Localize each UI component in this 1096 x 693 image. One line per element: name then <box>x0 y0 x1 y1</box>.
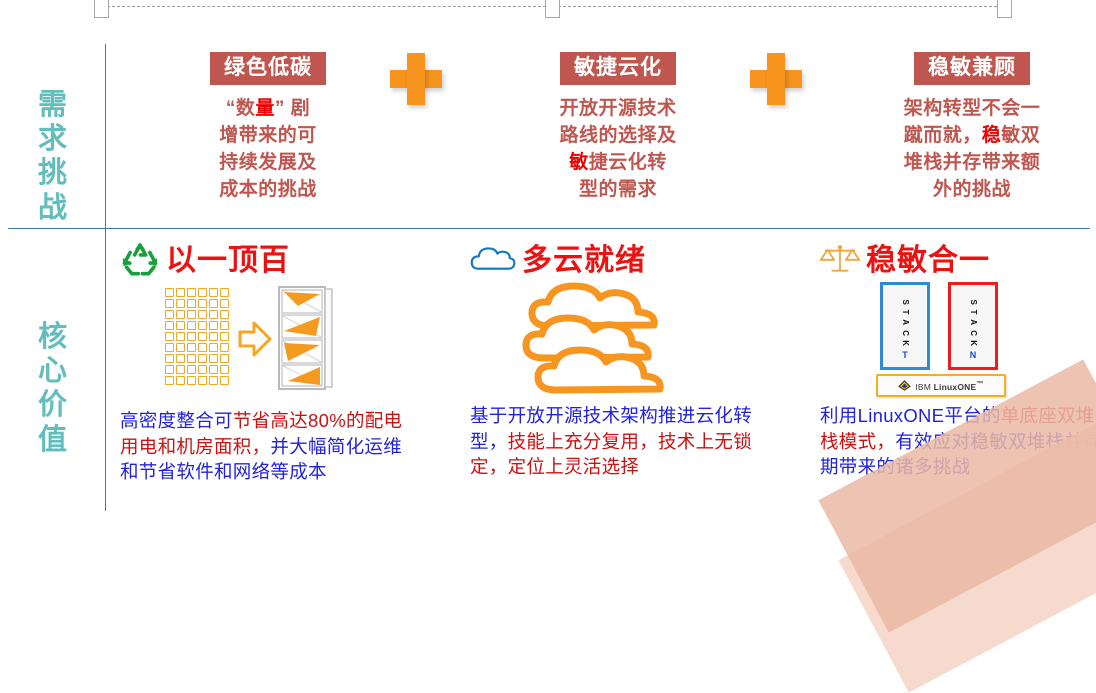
challenge-badge: 绿色低碳 <box>210 52 326 85</box>
recycle-icon <box>120 241 160 282</box>
vertical-divider-bottom <box>105 228 106 511</box>
value-card-caption: 基于开放开源技术架构推进云化转型，技能上充分复用，技术上无锁定，定位上灵活选择 <box>470 403 760 480</box>
challenge-body-line: 蹴而就，稳敏双 <box>872 123 1072 150</box>
stack-box-n: STACK N <box>948 282 998 370</box>
server-unit <box>220 299 229 308</box>
stacked-clouds-graphic <box>488 280 738 398</box>
slide-canvas: 需 求 挑 战 核 心 价 值 绿色低碳 “数量” 剧增带来的可持续发展及成本的… <box>0 0 1096 511</box>
row-label-char: 价 <box>18 388 88 422</box>
server-unit <box>209 332 218 341</box>
server-unit <box>198 310 207 319</box>
server-unit <box>198 365 207 374</box>
server-unit <box>220 354 229 363</box>
stack-box-n-word: STACK <box>951 297 995 348</box>
server-unit <box>165 321 174 330</box>
dual-stack-linuxone-graphic: STACK T STACK N IBM LinuxONE™ <box>860 282 1020 394</box>
challenge-card[interactable]: 稳敏兼顾 架构转型不会一蹴而就，稳敏双堆栈并存带来额外的挑战 <box>872 52 1072 204</box>
arrow-right-icon <box>238 320 272 358</box>
value-card[interactable]: 稳敏合一 STACK T STACK N IBM LinuxONE™ 利用 <box>820 240 1096 282</box>
challenge-body-line: “数量” 剧 <box>168 96 368 123</box>
server-unit <box>187 321 196 330</box>
server-unit <box>198 354 207 363</box>
guide-handle-center[interactable] <box>545 0 560 18</box>
server-unit <box>220 343 229 352</box>
server-unit <box>209 310 218 319</box>
stack-box-t-word: STACK <box>883 297 927 348</box>
body-text: “数 <box>226 98 256 119</box>
body-text: 架构转型不会一 <box>904 98 1041 119</box>
ibm-prefix: IBM <box>915 381 931 391</box>
body-text: 型的需求 <box>579 179 657 200</box>
server-unit <box>187 354 196 363</box>
body-text: 蹴而就， <box>904 125 982 146</box>
server-unit <box>198 288 207 297</box>
server-unit <box>209 299 218 308</box>
body-text: ” 剧 <box>275 98 310 119</box>
challenge-badge: 敏捷云化 <box>560 52 676 85</box>
linuxone-name: LinuxONE <box>934 381 977 391</box>
server-unit <box>209 288 218 297</box>
row-label-char: 核 <box>18 320 88 354</box>
server-unit <box>187 376 196 385</box>
challenge-card[interactable]: 敏捷云化 开放开源技术路线的选择及敏捷云化转型的需求 <box>518 52 718 204</box>
server-unit <box>165 332 174 341</box>
server-unit <box>187 299 196 308</box>
challenge-body: “数量” 剧增带来的可持续发展及成本的挑战 <box>168 96 368 204</box>
server-unit <box>209 343 218 352</box>
server-unit <box>198 343 207 352</box>
server-square-grid <box>165 288 230 386</box>
balance-scale-icon <box>820 242 860 281</box>
challenge-body: 开放开源技术路线的选择及敏捷云化转型的需求 <box>518 96 718 204</box>
server-unit <box>187 365 196 374</box>
server-unit <box>165 343 174 352</box>
server-unit <box>165 376 174 385</box>
server-unit <box>187 332 196 341</box>
body-text: 增带来的可 <box>219 125 317 146</box>
server-unit <box>176 343 185 352</box>
server-unit <box>198 299 207 308</box>
row-label-char: 心 <box>18 354 88 388</box>
server-unit <box>165 288 174 297</box>
row-label-core-value: 核 心 价 值 <box>18 320 88 457</box>
server-unit <box>198 376 207 385</box>
cloud-icon <box>470 243 516 280</box>
server-unit <box>176 376 185 385</box>
row-label-char: 值 <box>18 423 88 457</box>
server-unit <box>209 354 218 363</box>
highlight-text: 稳 <box>982 125 1002 146</box>
server-unit <box>209 376 218 385</box>
body-text: 外的挑战 <box>933 179 1011 200</box>
challenge-body-line: 开放开源技术 <box>518 96 718 123</box>
challenge-body-line: 堆栈并存带来额 <box>872 150 1072 177</box>
linuxone-label: IBM LinuxONE™ <box>915 380 983 392</box>
stack-box-t: STACK T <box>880 282 930 370</box>
value-card-title: 多云就绪 <box>522 246 646 276</box>
ibm-mark-icon <box>898 380 911 391</box>
challenge-body-line: 成本的挑战 <box>168 177 368 204</box>
server-unit <box>187 343 196 352</box>
challenge-badge: 稳敏兼顾 <box>914 52 1030 85</box>
server-unit <box>176 321 185 330</box>
server-unit <box>209 321 218 330</box>
vertical-divider-top <box>105 44 106 228</box>
server-unit <box>165 354 174 363</box>
value-card-title: 稳敏合一 <box>866 246 990 276</box>
server-unit <box>209 365 218 374</box>
challenge-card[interactable]: 绿色低碳 “数量” 剧增带来的可持续发展及成本的挑战 <box>168 52 368 204</box>
body-text: 路线的选择及 <box>559 125 676 146</box>
tm-mark: ™ <box>976 380 983 388</box>
stack-box-n-tag: N <box>951 350 995 360</box>
body-text: 开放开源技术 <box>559 98 676 119</box>
challenge-body-line: 型的需求 <box>518 177 718 204</box>
challenge-body: 架构转型不会一蹴而就，稳敏双堆栈并存带来额外的挑战 <box>872 96 1072 204</box>
guide-handle-left[interactable] <box>94 0 109 18</box>
server-unit <box>176 299 185 308</box>
row-label-char: 需 <box>18 88 88 122</box>
horizontal-divider <box>8 228 1090 229</box>
body-text: 成本的挑战 <box>219 179 317 200</box>
caption-run: 高密度整合可 <box>120 410 233 431</box>
challenge-body-line: 架构转型不会一 <box>872 96 1072 123</box>
server-unit <box>220 365 229 374</box>
body-text: 持续发展及 <box>219 152 317 173</box>
value-card-caption: 高密度整合可节省高达80%的配电用电和机房面积，并大幅简化运维和节省软件和网络等… <box>120 408 410 485</box>
server-unit <box>198 332 207 341</box>
challenge-body-line: 增带来的可 <box>168 123 368 150</box>
server-rack-icon <box>278 286 334 390</box>
row-label-demand-challenge: 需 求 挑 战 <box>18 88 88 225</box>
challenge-body-line: 外的挑战 <box>872 177 1072 204</box>
server-unit <box>187 310 196 319</box>
server-unit <box>176 288 185 297</box>
server-unit <box>165 310 174 319</box>
server-unit <box>176 354 185 363</box>
challenge-body-line: 持续发展及 <box>168 150 368 177</box>
server-unit <box>220 310 229 319</box>
body-text: 捷云化转 <box>589 152 667 173</box>
horizontal-guide[interactable] <box>94 0 1010 18</box>
body-text: 敏双 <box>1001 125 1040 146</box>
value-card[interactable]: 以一顶百 <box>120 240 420 282</box>
server-unit <box>176 332 185 341</box>
server-unit <box>220 321 229 330</box>
server-unit <box>187 288 196 297</box>
stack-box-t-tag: T <box>883 350 927 360</box>
value-card-header: 稳敏合一 <box>820 240 1096 282</box>
server-unit <box>198 321 207 330</box>
challenge-body-line: 敏捷云化转 <box>518 150 718 177</box>
guide-handle-right[interactable] <box>997 0 1012 18</box>
server-unit <box>176 310 185 319</box>
challenge-body-line: 路线的选择及 <box>518 123 718 150</box>
server-consolidation-graphic <box>165 286 335 391</box>
value-card-header: 多云就绪 <box>470 240 770 282</box>
server-unit <box>165 365 174 374</box>
server-unit <box>220 288 229 297</box>
server-unit <box>220 376 229 385</box>
plus-icon <box>390 53 442 105</box>
server-unit <box>176 365 185 374</box>
server-unit <box>165 299 174 308</box>
server-unit <box>220 332 229 341</box>
highlight-text: 量 <box>255 98 275 119</box>
row-label-char: 战 <box>18 191 88 225</box>
plus-icon <box>750 53 802 105</box>
value-card-title: 以一顶百 <box>166 246 290 276</box>
value-card-header: 以一顶百 <box>120 240 420 282</box>
body-text: 堆栈并存带来额 <box>904 152 1041 173</box>
linuxone-platform-bar: IBM LinuxONE™ <box>876 374 1006 397</box>
row-label-char: 求 <box>18 122 88 156</box>
row-label-char: 挑 <box>18 156 88 190</box>
value-card[interactable]: 多云就绪 基于开放开源技术架构推进云化转型，技能上充分复用，技术上无锁定，定位上… <box>470 240 770 282</box>
highlight-text: 敏 <box>569 152 589 173</box>
caption-run: 技能上充分复用，技术上无锁定，定位上灵活选择 <box>470 431 752 478</box>
